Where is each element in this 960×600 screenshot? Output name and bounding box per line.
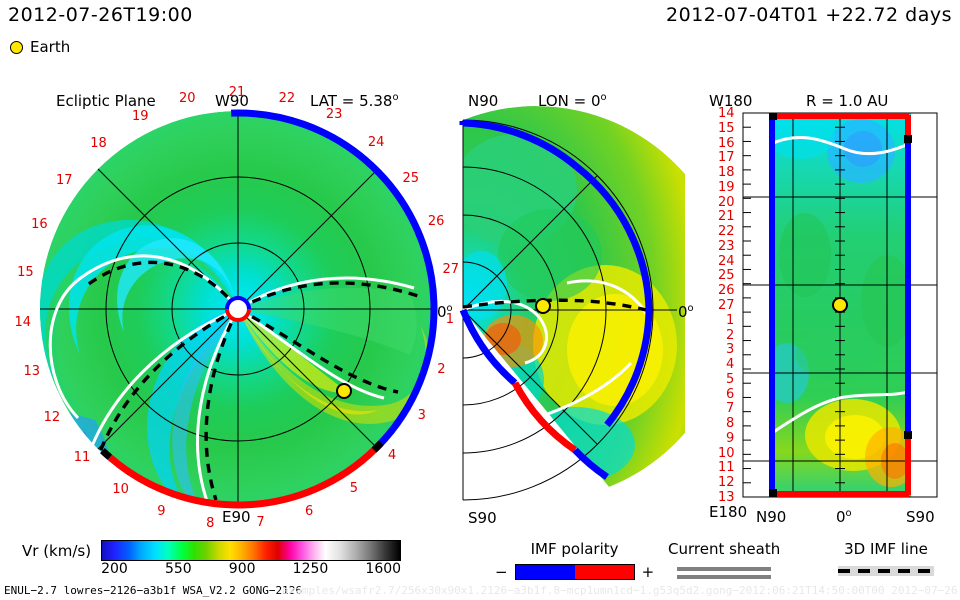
- synoptic-y-tick: 4: [726, 357, 734, 372]
- ecliptic-rim-tick: 12: [44, 410, 61, 425]
- ecliptic-rim-tick: 3: [418, 408, 426, 423]
- polarity-plus-label: +: [642, 563, 655, 581]
- synoptic-y-tick: 8: [726, 416, 734, 431]
- synoptic-y-tick: 7: [726, 401, 734, 416]
- ecliptic-rim-tick: 19: [132, 109, 149, 124]
- ecliptic-rim-tick: 4: [388, 448, 396, 463]
- synoptic-y-tick: 26: [718, 283, 735, 298]
- synoptic-x-tick: S90: [906, 508, 935, 526]
- current-sheath-swatch: [677, 567, 771, 579]
- earth-dot-icon: [10, 41, 23, 54]
- current-sheath-title: Current sheath: [668, 540, 780, 558]
- synoptic-bottom-left-label: E180: [709, 503, 747, 521]
- vr-colorbar-ticks: 20055090012501600: [101, 561, 401, 577]
- ecliptic-rim-tick: 5: [350, 481, 358, 496]
- earth-marker-icon: [833, 298, 847, 312]
- timestamp-run-offset: 2012-07-04T01 +22.72 days: [666, 4, 952, 26]
- synoptic-y-tick: 22: [718, 224, 735, 239]
- polarity-negative-swatch: [516, 565, 575, 579]
- synoptic-y-tick: 10: [718, 446, 735, 461]
- synoptic-y-tick: 3: [726, 342, 734, 357]
- run-id-footer: ENUL−2.7 lowres−2126−a3b1f WSA_V2.2 GONG…: [4, 584, 302, 597]
- ecliptic-rim-tick: 22: [279, 91, 296, 106]
- synoptic-y-tick: 5: [726, 372, 734, 387]
- watermark-footer: examples/wsafr2.7/256x30x90x1.2126−a3b1f…: [282, 584, 958, 597]
- ecliptic-rim-tick: 6: [305, 504, 313, 519]
- timestamp-current: 2012-07-26T19:00: [8, 4, 193, 26]
- synoptic-y-tick: 21: [718, 209, 735, 224]
- sun-marker: [225, 296, 251, 322]
- meridional-lon-label: LON = 0o: [538, 92, 607, 110]
- ecliptic-rim-tick: 18: [90, 136, 107, 151]
- ecliptic-rim-tick: 26: [428, 214, 445, 229]
- earth-legend: Earth: [10, 38, 70, 56]
- ecliptic-rim-tick: 10: [112, 482, 129, 497]
- ecliptic-rim-tick: 1: [446, 312, 454, 327]
- ecliptic-rim-tick: 9: [157, 504, 165, 519]
- synoptic-y-tick: 11: [718, 460, 735, 475]
- vr-colorbar-group: Vr (km/s) 20055090012501600: [22, 540, 401, 577]
- ecliptic-rim-tick: 15: [17, 265, 34, 280]
- ecliptic-rim-tick: 7: [256, 515, 264, 530]
- ecliptic-rim-tick: 17: [56, 173, 73, 188]
- ecliptic-rim-tick: 20: [179, 91, 196, 106]
- synoptic-y-tick: 23: [718, 239, 735, 254]
- earth-legend-label: Earth: [30, 38, 70, 56]
- synoptic-y-tick: 16: [718, 136, 735, 151]
- synoptic-y-tick: 12: [718, 475, 735, 490]
- imf-line-legend: 3D IMF line: [838, 540, 934, 576]
- vr-colorbar-tick: 550: [165, 561, 192, 577]
- synoptic-y-tick: 6: [726, 387, 734, 402]
- ecliptic-lat-label: LAT = 5.38o: [310, 92, 399, 110]
- synoptic-y-tick: 17: [718, 150, 735, 165]
- synoptic-x-tick: N90: [756, 508, 786, 526]
- ecliptic-rim-tick: 2: [437, 362, 445, 377]
- synoptic-y-tick: 14: [718, 106, 735, 121]
- ecliptic-rim-tick: 24: [368, 135, 385, 150]
- vr-colorbar[interactable]: [101, 540, 401, 561]
- synoptic-y-tick: 15: [718, 121, 735, 136]
- imf-polarity-legend: IMF polarity − +: [495, 540, 654, 581]
- imf-polarity-title: IMF polarity: [495, 540, 654, 558]
- ecliptic-bottom-label: E90: [222, 508, 251, 526]
- synoptic-y-tick: 9: [726, 431, 734, 446]
- ecliptic-rim-tick: 11: [74, 450, 91, 465]
- polarity-swatch-bar: [515, 564, 635, 580]
- ecliptic-rim-tick: 8: [206, 516, 214, 531]
- synoptic-y-tick: 19: [718, 180, 735, 195]
- synoptic-map-plot[interactable]: [735, 105, 950, 505]
- imf-line-title: 3D IMF line: [838, 540, 934, 558]
- synoptic-panel-title: R = 1.0 AU: [806, 92, 888, 110]
- earth-marker-icon: [536, 299, 550, 313]
- meridional-plane-plot[interactable]: [455, 95, 685, 515]
- ecliptic-rim-tick: 25: [403, 171, 420, 186]
- synoptic-y-tick: 20: [718, 195, 735, 210]
- ecliptic-rim-tick: 21: [229, 85, 246, 100]
- meridional-top-label: N90: [468, 92, 498, 110]
- ecliptic-rim-tick: 16: [31, 217, 48, 232]
- meridional-right-label: 0o: [678, 303, 694, 321]
- vr-colorbar-tick: 200: [101, 561, 128, 577]
- ecliptic-panel-title: Ecliptic Plane: [56, 92, 156, 110]
- earth-marker-icon: [337, 384, 351, 398]
- ecliptic-rim-tick: 23: [326, 107, 343, 122]
- synoptic-y-tick: 1: [726, 313, 734, 328]
- polarity-positive-swatch: [575, 565, 634, 579]
- vr-colorbar-tick: 900: [229, 561, 256, 577]
- meridional-bottom-label: S90: [468, 509, 497, 527]
- ecliptic-rim-tick: 13: [23, 364, 40, 379]
- synoptic-y-tick: 24: [718, 254, 735, 269]
- polarity-minus-label: −: [495, 563, 508, 581]
- vr-colorbar-tick: 1250: [293, 561, 329, 577]
- vr-colorbar-label: Vr (km/s): [22, 540, 91, 560]
- synoptic-y-tick: 25: [718, 268, 735, 283]
- synoptic-x-tick: 0o: [836, 508, 852, 526]
- synoptic-y-tick: 13: [718, 490, 735, 505]
- synoptic-y-tick: 18: [718, 165, 735, 180]
- vr-colorbar-tick: 1600: [365, 561, 401, 577]
- synoptic-y-tick: 2: [726, 328, 734, 343]
- current-sheath-legend: Current sheath: [668, 540, 780, 579]
- ecliptic-rim-tick: 14: [14, 315, 31, 330]
- synoptic-y-tick: 27: [718, 298, 735, 313]
- imf-line-swatch: [838, 566, 934, 576]
